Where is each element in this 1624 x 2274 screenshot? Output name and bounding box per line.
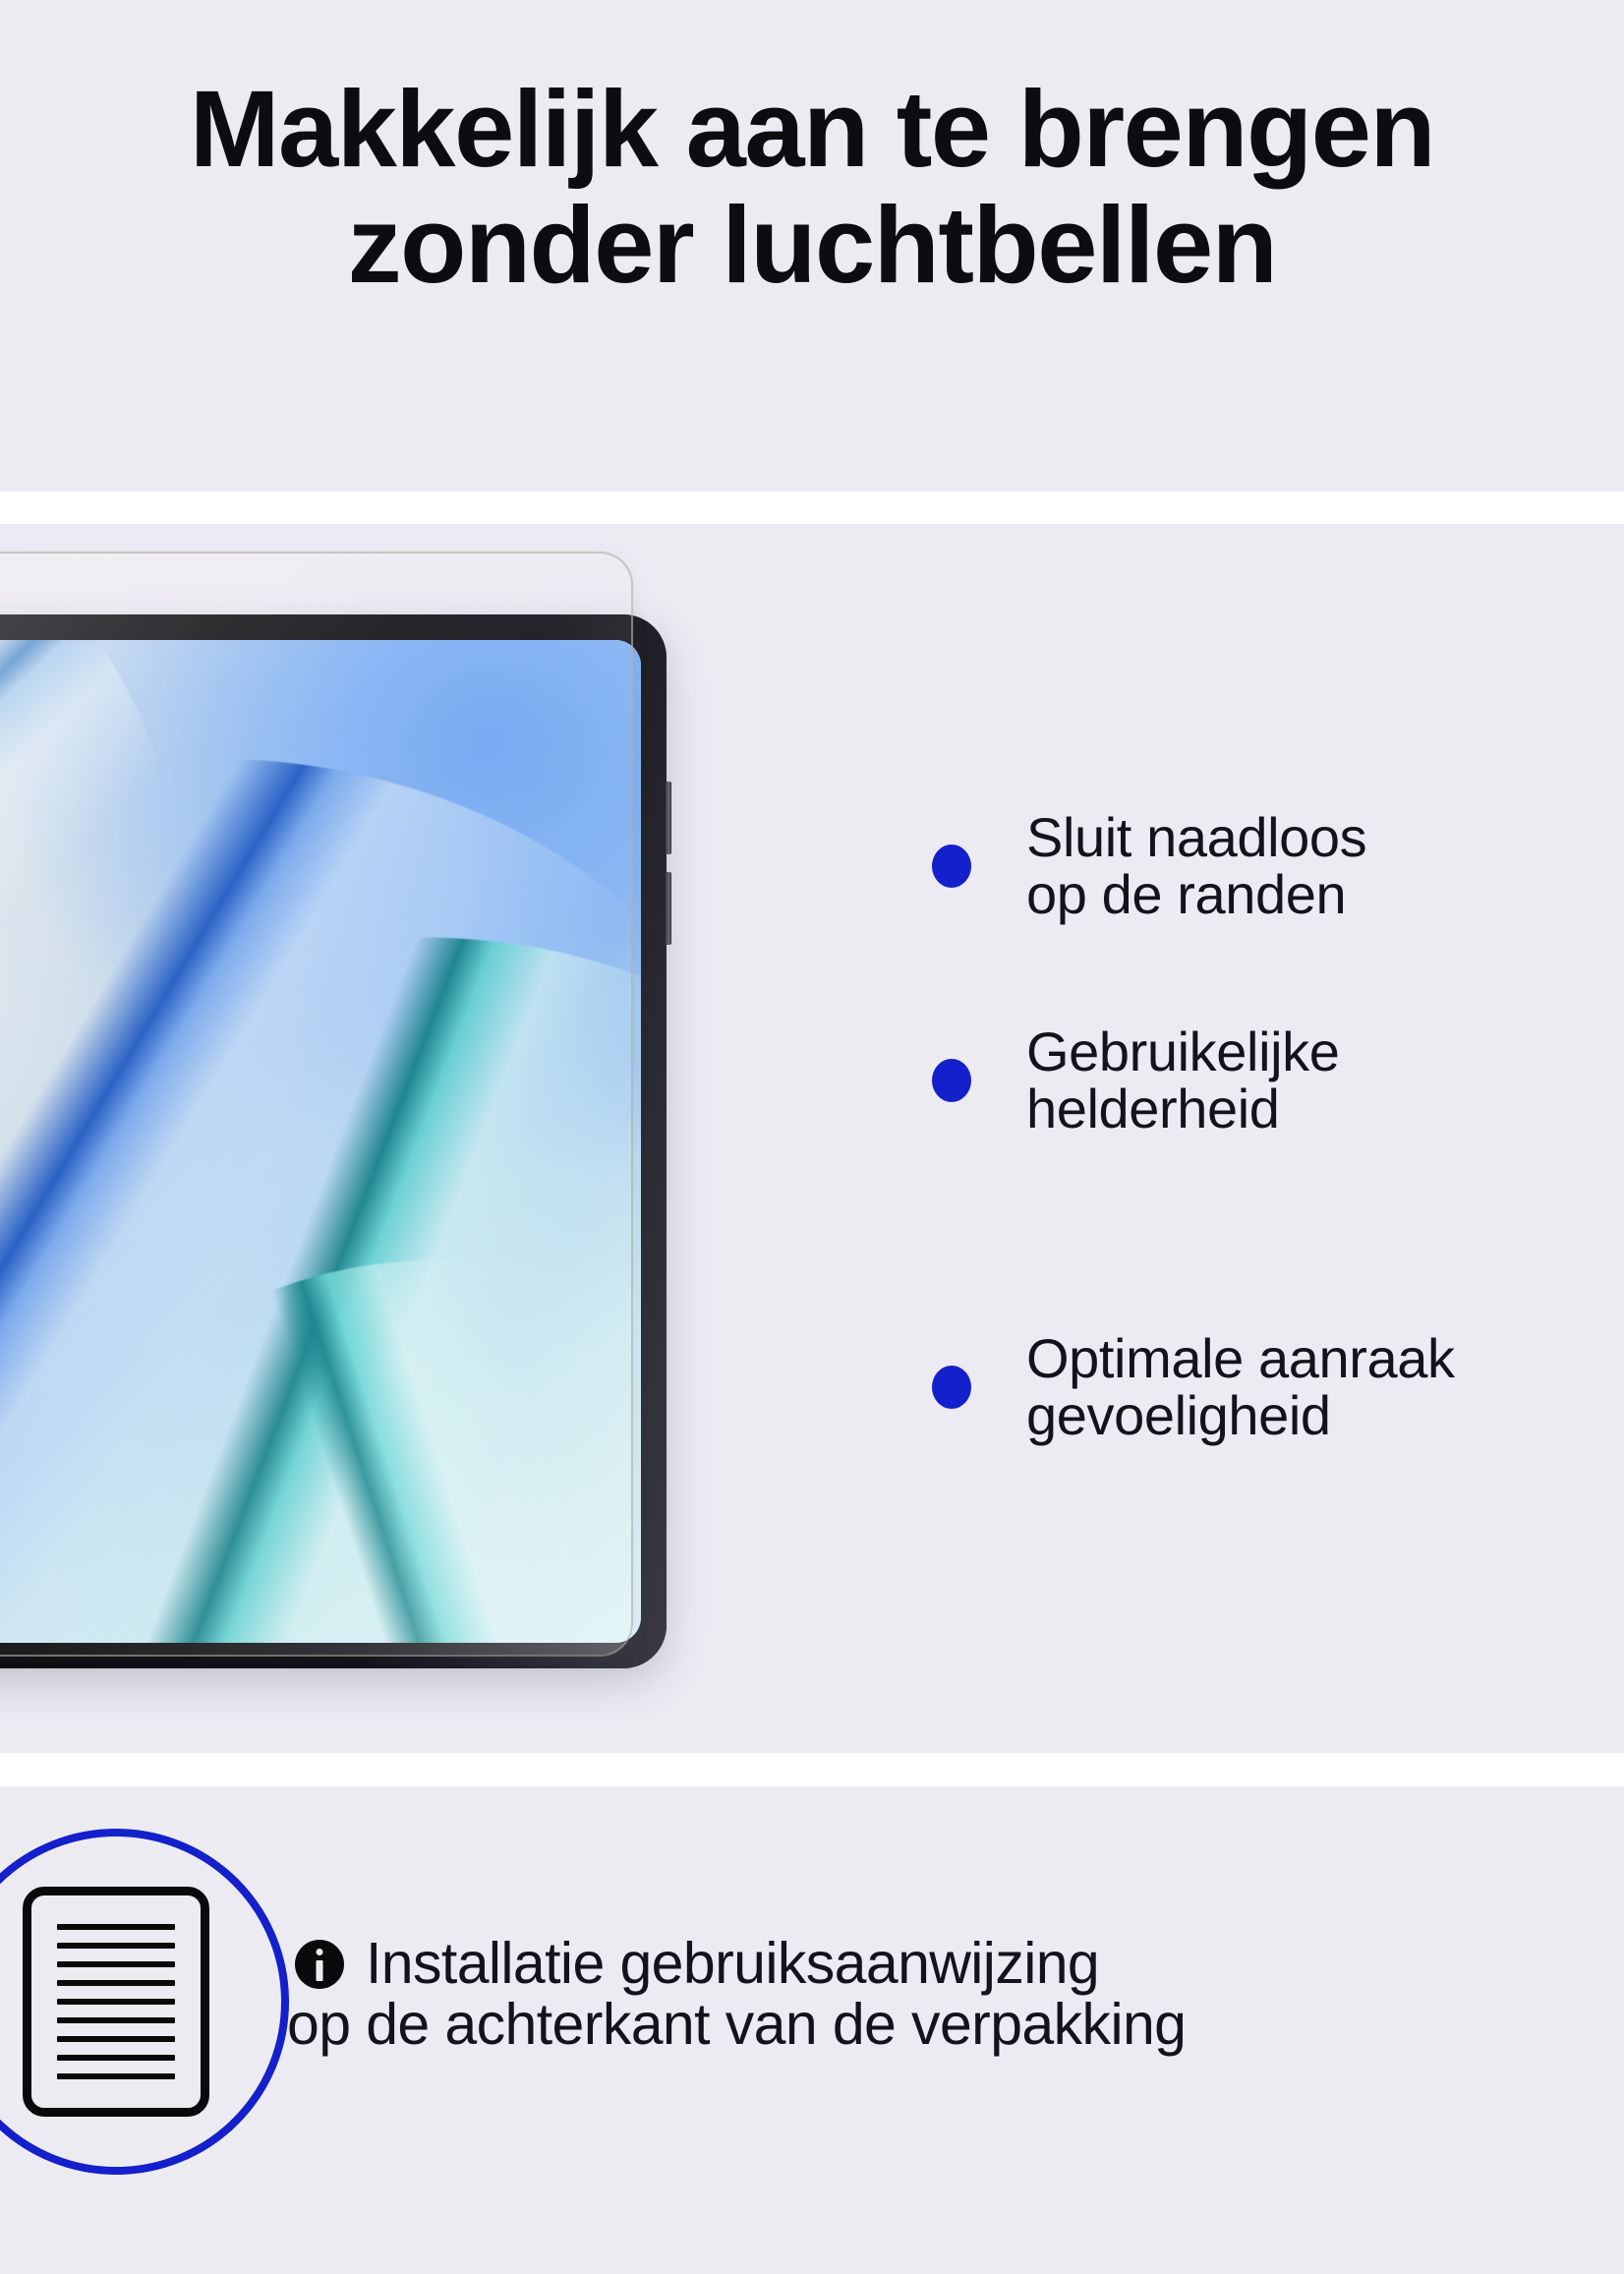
title-line-2: zonder luchtbellen (0, 191, 1624, 301)
title-line-1: Makkelijk aan te brengen (0, 75, 1624, 185)
product-feature-banner: Makkelijk aan te brengen zonder luchtbel… (0, 0, 1624, 2274)
info-dot (317, 1949, 323, 1955)
tablet-screen (0, 640, 641, 1643)
note-line-1-wrap: Installatie gebruiksaanwijzing (295, 1934, 1624, 1995)
volume-down-button[interactable] (666, 872, 671, 945)
document-manual-icon (23, 1887, 209, 2117)
tablet-device (0, 614, 667, 1668)
product-section: Sluit naadloos op de randen Gebruikelijk… (0, 524, 1624, 1753)
divider-bottom (0, 1753, 1624, 1786)
feature-line-1: Gebruikelijke (1026, 1023, 1340, 1080)
feature-item-touch-sensitivity: Optimale aanraak gevoeligheid (932, 1330, 1455, 1444)
doc-line (57, 1961, 175, 1967)
feature-label: Gebruikelijke helderheid (1026, 1023, 1340, 1137)
header-section: Makkelijk aan te brengen zonder luchtbel… (0, 0, 1624, 492)
note-line-1: Installatie gebruiksaanwijzing (366, 1934, 1099, 1995)
doc-line (57, 1999, 175, 2005)
feature-line-1: Sluit naadloos (1026, 809, 1366, 866)
bullet-dot-icon (932, 1366, 971, 1409)
feature-label: Sluit naadloos op de randen (1026, 809, 1366, 923)
doc-line (57, 1924, 175, 1930)
note-line-2: op de achterkant van de verpakking (287, 1995, 1624, 2056)
bullet-dot-icon (932, 845, 971, 888)
feature-item-seamless-edges: Sluit naadloos op de randen (932, 809, 1366, 923)
doc-line (57, 2055, 175, 2061)
feature-line-2: op de randen (1026, 866, 1366, 923)
feature-label: Optimale aanraak gevoeligheid (1026, 1330, 1455, 1444)
info-circle-icon (295, 1940, 344, 1989)
feature-list: Sluit naadloos op de randen Gebruikelijk… (932, 524, 1624, 1753)
wallpaper-sheen (0, 640, 641, 1643)
feature-item-clarity: Gebruikelijke helderheid (932, 1023, 1340, 1137)
feature-line-2: gevoeligheid (1026, 1387, 1455, 1444)
doc-line (57, 2073, 175, 2079)
volume-up-button[interactable] (666, 782, 671, 854)
footer-section: Installatie gebruiksaanwijzing op de ach… (0, 1786, 1624, 2274)
installation-note: Installatie gebruiksaanwijzing op de ach… (295, 1934, 1624, 2056)
doc-line (57, 1943, 175, 1949)
doc-line (57, 2036, 175, 2042)
page-title: Makkelijk aan te brengen zonder luchtbel… (0, 75, 1624, 301)
divider-top (0, 492, 1624, 524)
bullet-dot-icon (932, 1059, 971, 1102)
doc-line (57, 1980, 175, 1986)
doc-line (57, 2017, 175, 2023)
wallpaper-image (0, 640, 641, 1643)
info-stem (317, 1960, 323, 1981)
feature-line-2: helderheid (1026, 1080, 1340, 1137)
manual-badge (0, 1829, 289, 2175)
feature-line-1: Optimale aanraak (1026, 1330, 1455, 1387)
